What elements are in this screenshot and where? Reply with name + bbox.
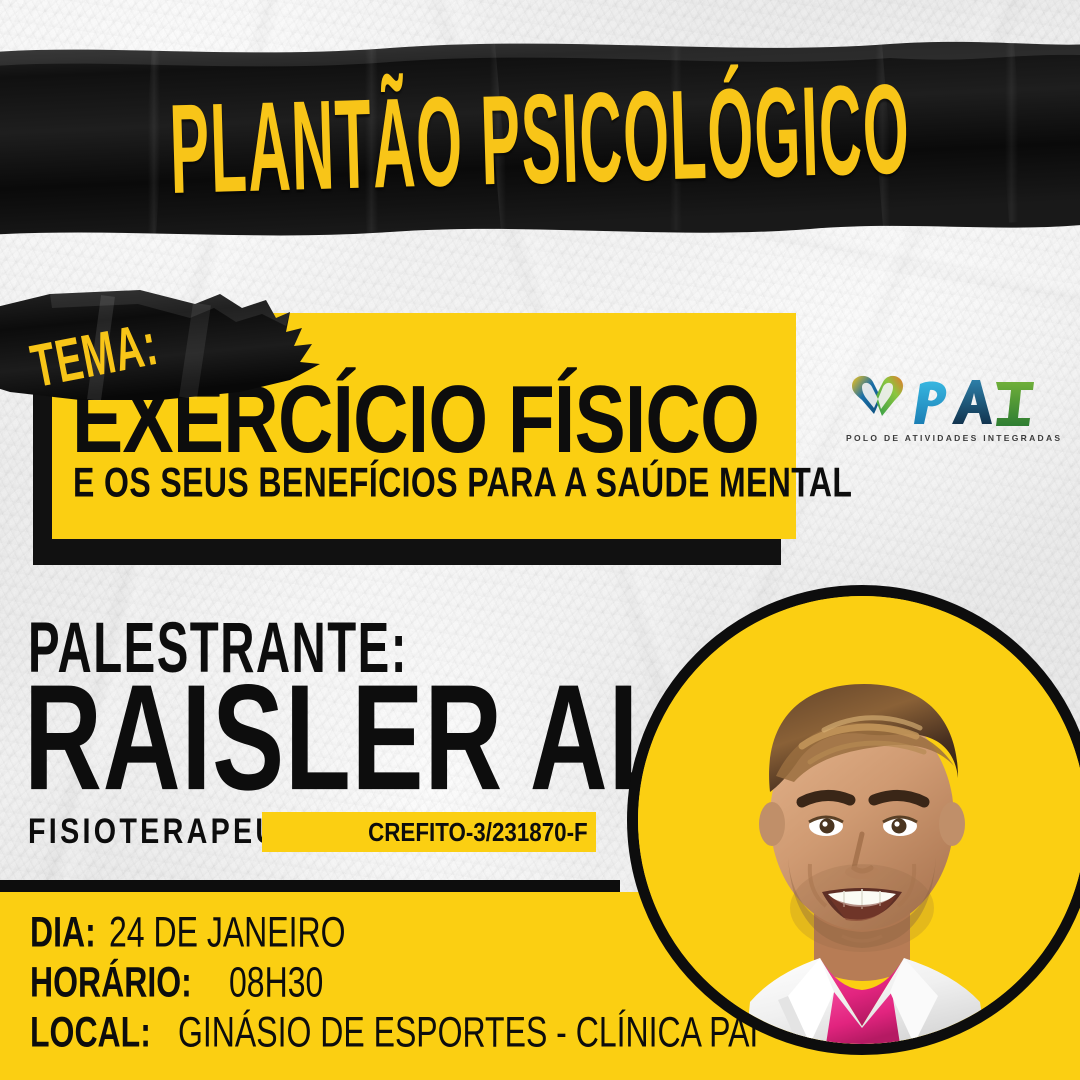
detail-row-local: LOCAL: GINÁSIO DE ESPORTES - CLÍNICA PAI [30, 1012, 630, 1056]
tema-subtitle: E OS SEUS BENEFÍCIOS PARA A SAÚDE MENTAL [73, 462, 773, 502]
speaker-photo-circle [627, 585, 1080, 1055]
detail-key-dia: DIA: [30, 909, 96, 956]
tema-tape: TEMA: [0, 288, 410, 408]
speaker-photo-ring [627, 585, 1080, 1055]
detail-value-dia: 24 DE JANEIRO [109, 909, 346, 956]
pai-logo-tagline: POLO DE ATIVIDADES INTEGRADAS [846, 433, 1046, 443]
speaker-registry-bar: CREFITO-3/231870-F [262, 812, 596, 852]
speaker-portrait [638, 596, 1080, 1044]
speaker-registry-text: CREFITO-3/231870-F [368, 817, 596, 848]
detail-row-horario: HORÁRIO: 08H30 [30, 962, 630, 1006]
tema-subtitle-text: E OS SEUS BENEFÍCIOS PARA A SAÚDE MENTAL [73, 462, 852, 504]
pai-logo-mark [846, 370, 1046, 434]
event-details-list: DIA: 24 DE JANEIRO HORÁRIO: 08H30 LOCAL:… [30, 912, 630, 1062]
detail-key-local: LOCAL: [30, 1009, 151, 1056]
pai-logo: POLO DE ATIVIDADES INTEGRADAS [846, 370, 1046, 456]
bottom-divider-rule [0, 880, 620, 892]
detail-value-horario: 08H30 [229, 959, 323, 1006]
detail-row-dia: DIA: 24 DE JANEIRO [30, 912, 630, 956]
title-banner: PLANTÃO PSICOLÓGICO [0, 30, 1080, 250]
poster-title-text: PLANTÃO PSICOLÓGICO [168, 66, 911, 214]
detail-key-horario: HORÁRIO: [30, 959, 192, 1006]
poster-canvas: PLANTÃO PSICOLÓGICO EXERCÍCIO FÍSICO E O… [0, 0, 1080, 1080]
poster-title: PLANTÃO PSICOLÓGICO [0, 14, 1080, 266]
